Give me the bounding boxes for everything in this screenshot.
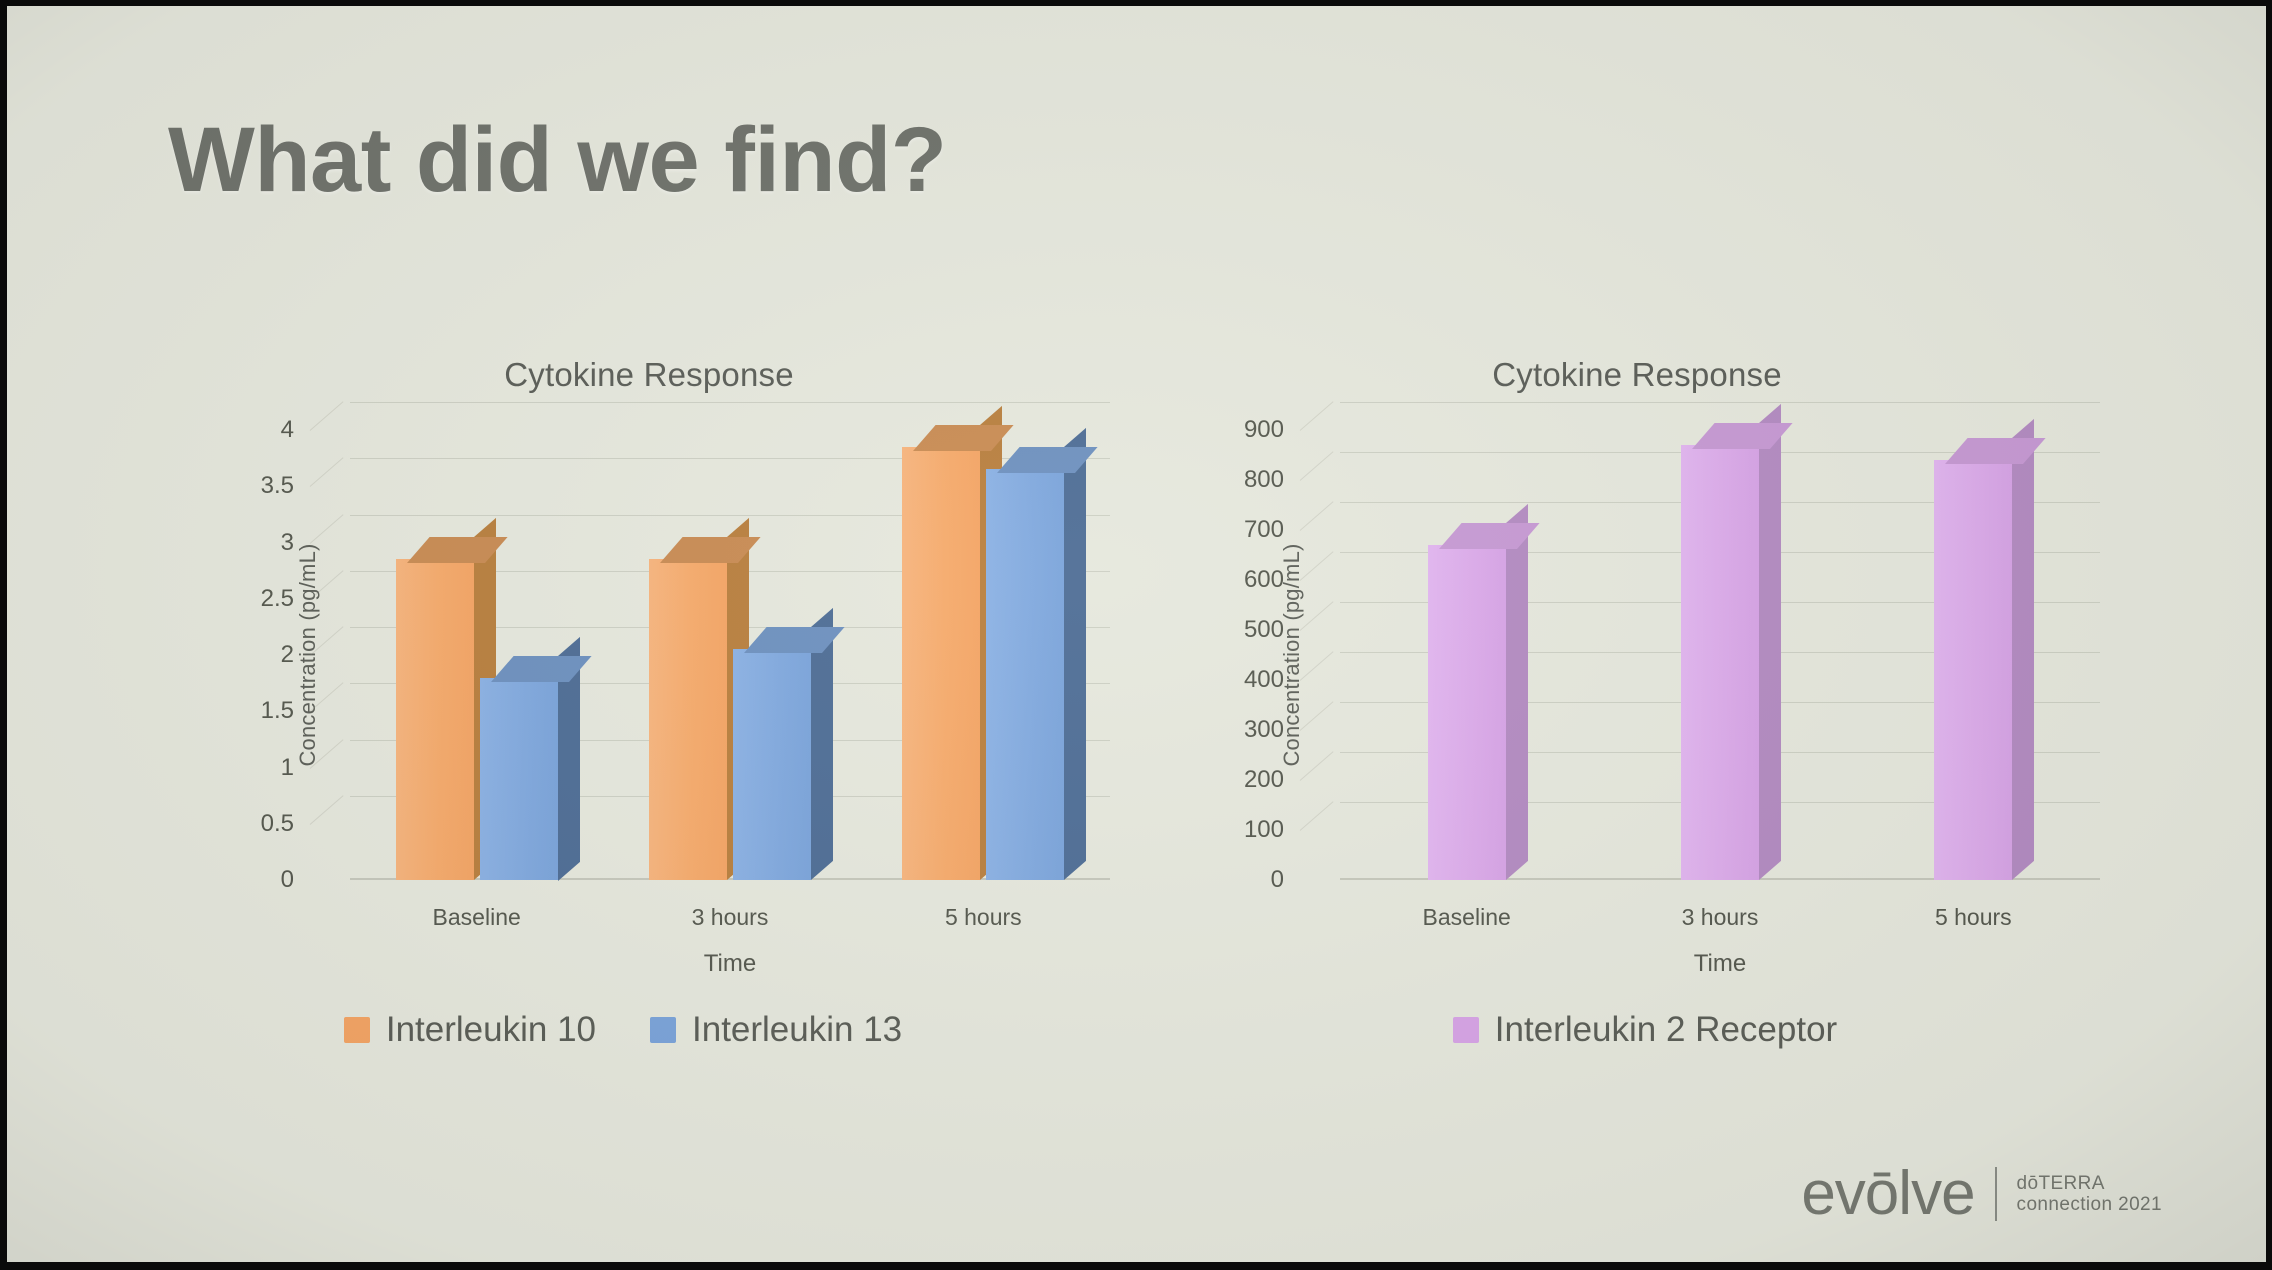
x-tick-label: 3 hours	[1593, 904, 1846, 931]
gridline-depth-riser	[310, 401, 344, 431]
y-tick-label: 3	[281, 529, 294, 557]
bar-side-face	[1506, 504, 1528, 880]
evolve-doterra-logo: evōlve dōTERRA connection 2021	[1801, 1163, 2162, 1225]
gridline-depth-riser	[310, 458, 344, 488]
bar	[649, 559, 727, 880]
video-border-right	[2266, 0, 2272, 1270]
y-tick-label: 4	[281, 416, 294, 444]
legend-swatch	[650, 1017, 676, 1043]
bar-group	[857, 430, 1110, 880]
video-border-top	[0, 0, 2272, 6]
y-tick-label: 300	[1244, 716, 1284, 744]
bar-group	[350, 430, 603, 880]
x-tick-label: Baseline	[350, 904, 603, 931]
x-tick-label: 5 hours	[857, 904, 1110, 931]
bar-front-face	[649, 559, 727, 880]
bar-front-face	[1681, 445, 1759, 880]
logo-wordmark: evōlve	[1801, 1163, 1974, 1225]
y-tick-label: 500	[1244, 616, 1284, 644]
logo-subtext: dōTERRA connection 2021	[2017, 1173, 2162, 1216]
bar	[1934, 460, 2012, 880]
bar	[1428, 545, 1506, 880]
bar-side-face	[2012, 419, 2034, 880]
y-tick-label: 2.5	[261, 585, 294, 613]
legend-item: Interleukin 10	[344, 1010, 596, 1050]
legend-label: Interleukin 2 Receptor	[1495, 1010, 1837, 1050]
y-tick-label: 900	[1244, 416, 1284, 444]
bar	[733, 649, 811, 880]
bar-front-face	[1428, 545, 1506, 880]
y-tick-label: 400	[1244, 666, 1284, 694]
gridline	[350, 402, 1110, 403]
bar-front-face	[1934, 460, 2012, 880]
bar-group	[1340, 430, 1593, 880]
bar-group	[1847, 430, 2100, 880]
bar	[902, 447, 980, 880]
y-axis-label: Concentration (pg/mL)	[295, 495, 321, 815]
bar-side-face	[1759, 404, 1781, 880]
plot-area: Concentration (pg/mL) 010020030040050060…	[1300, 430, 2100, 880]
logo-subtext-line2: connection 2021	[2017, 1194, 2162, 1215]
slide-canvas: What did we find? Cytokine Response Conc…	[0, 0, 2272, 1270]
logo-subtext-line1: dōTERRA	[2017, 1173, 2162, 1194]
y-tick-label: 3.5	[261, 472, 294, 500]
bar	[986, 469, 1064, 880]
bar-front-face	[733, 649, 811, 880]
x-tick-label: 3 hours	[603, 904, 856, 931]
page-title: What did we find?	[168, 108, 947, 213]
x-axis-label: Time	[1340, 950, 2100, 978]
bar-side-face	[1064, 428, 1086, 880]
y-tick-label: 1.5	[261, 697, 294, 725]
y-tick-label: 800	[1244, 466, 1284, 494]
y-tick-label: 100	[1244, 816, 1284, 844]
logo-divider	[1995, 1167, 1997, 1221]
bar-front-face	[902, 447, 980, 880]
x-axis-label: Time	[350, 950, 1110, 978]
x-axis-ticks: Baseline3 hours5 hours	[350, 904, 1110, 931]
legend-swatch	[344, 1017, 370, 1043]
bar-group	[1593, 430, 1846, 880]
bar-front-face	[396, 559, 474, 880]
plot-area: Concentration (pg/mL) 00.511.522.533.54 …	[310, 430, 1110, 880]
legend-label: Interleukin 10	[386, 1010, 596, 1050]
gridline	[1340, 402, 2100, 403]
bar-group-container	[1340, 430, 2100, 880]
y-tick-label: 600	[1244, 566, 1284, 594]
y-tick-label: 0.5	[261, 810, 294, 838]
y-tick-label: 2	[281, 641, 294, 669]
x-tick-label: Baseline	[1340, 904, 1593, 931]
y-tick-label: 1	[281, 754, 294, 782]
gridline-depth-riser	[1300, 401, 1334, 431]
chart-right-cytokine-response: Cytokine Response Concentration (pg/mL) …	[1140, 330, 2170, 1130]
bar-group	[603, 430, 856, 880]
legend-swatch	[1453, 1017, 1479, 1043]
x-tick-label: 5 hours	[1847, 904, 2100, 931]
chart-left-cytokine-response: Cytokine Response Concentration (pg/mL) …	[150, 330, 1180, 1130]
chart-title: Cytokine Response	[134, 356, 1164, 394]
bar	[480, 678, 558, 881]
bar-group-container	[350, 430, 1110, 880]
bar-front-face	[986, 469, 1064, 880]
y-tick-label: 0	[281, 866, 294, 894]
x-axis-ticks: Baseline3 hours5 hours	[1340, 904, 2100, 931]
video-border-bottom	[0, 1262, 2272, 1270]
bar	[396, 559, 474, 880]
legend-item: Interleukin 13	[650, 1010, 902, 1050]
legend-label: Interleukin 13	[692, 1010, 902, 1050]
y-tick-label: 0	[1271, 866, 1284, 894]
chart-legend: Interleukin 10Interleukin 13	[108, 1010, 1138, 1050]
y-tick-label: 200	[1244, 766, 1284, 794]
legend-item: Interleukin 2 Receptor	[1453, 1010, 1837, 1050]
bar	[1681, 445, 1759, 880]
chart-title: Cytokine Response	[1122, 356, 2152, 394]
chart-legend: Interleukin 2 Receptor	[1130, 1010, 2160, 1050]
video-border-left	[0, 0, 7, 1270]
y-tick-label: 700	[1244, 516, 1284, 544]
bar-front-face	[480, 678, 558, 881]
gridline-depth-riser	[1300, 451, 1334, 481]
